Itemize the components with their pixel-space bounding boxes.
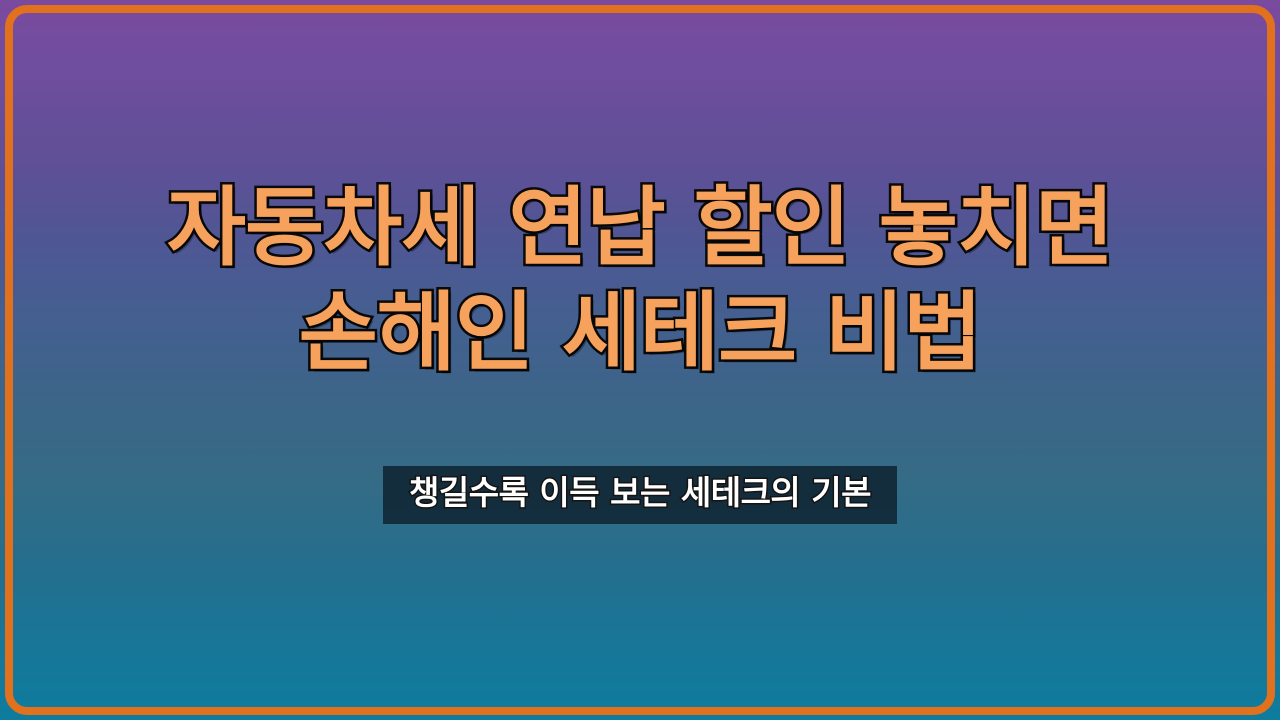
subtitle-text: 챙길수록 이득 보는 세테크의 기본: [409, 473, 871, 512]
thumbnail-canvas: 자동차세 연납 할인 놓치면 손해인 세테크 비법 챙길수록 이득 보는 세테크…: [0, 0, 1280, 720]
subtitle-container: 챙길수록 이득 보는 세테크의 기본: [0, 466, 1280, 524]
banner-content: 자동차세 연납 할인 놓치면 손해인 세테크 비법 챙길수록 이득 보는 세테크…: [0, 0, 1280, 720]
title-line-1: 자동차세 연납 할인 놓치면: [0, 176, 1280, 281]
page-title: 자동차세 연납 할인 놓치면 손해인 세테크 비법: [0, 176, 1280, 386]
subtitle-bar: 챙길수록 이득 보는 세테크의 기본: [383, 466, 897, 524]
title-line-2: 손해인 세테크 비법: [0, 281, 1280, 386]
